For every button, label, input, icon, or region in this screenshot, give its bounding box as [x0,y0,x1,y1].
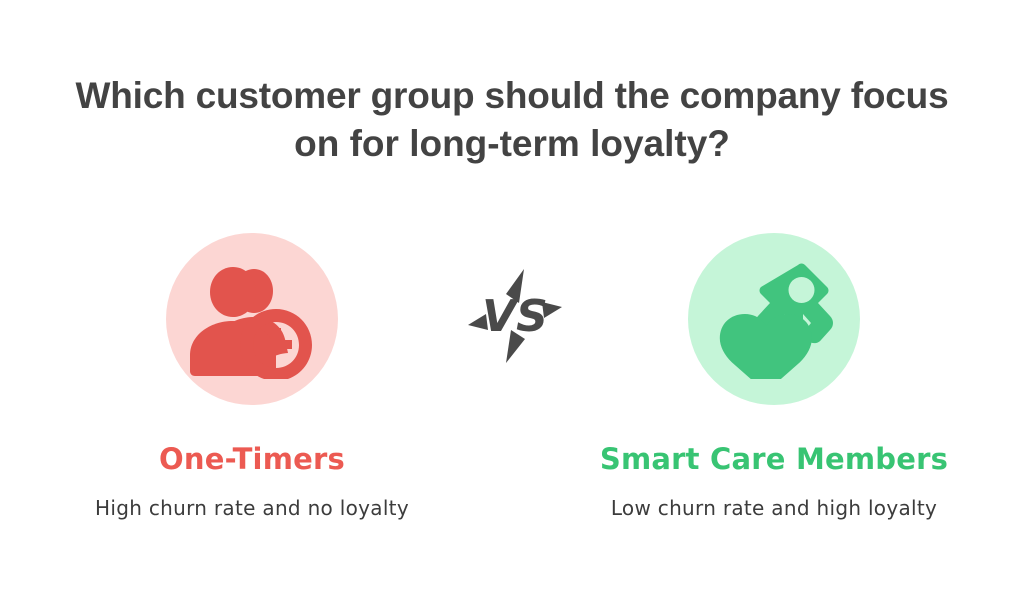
one-timers-description: High churn rate and no loyalty [37,495,467,521]
vs-burst-icon: VS [462,263,568,369]
comparison-row: One-Timers High churn rate and no loyalt… [0,233,1024,533]
users-clock-icon [190,259,314,379]
group-card-smart-care-members[interactable]: Smart Care Members Low churn rate and hi… [559,233,989,521]
one-timers-label: One-Timers [37,442,467,476]
page-title: Which customer group should the company … [0,72,1024,168]
smart-care-members-icon-circle [688,233,860,405]
page-title-line-1: Which customer group should the company … [28,72,996,120]
smart-care-members-description: Low churn rate and high loyalty [559,495,989,521]
versus-label: VS [482,291,548,342]
smart-care-members-label: Smart Care Members [559,442,989,476]
heart-person-icon [712,259,836,379]
group-card-one-timers[interactable]: One-Timers High churn rate and no loyalt… [37,233,467,521]
page-title-line-2: on for long-term loyalty? [28,120,996,168]
one-timers-icon-circle [166,233,338,405]
comparison-slide: Which customer group should the company … [0,0,1024,599]
versus-badge: VS [462,263,568,369]
